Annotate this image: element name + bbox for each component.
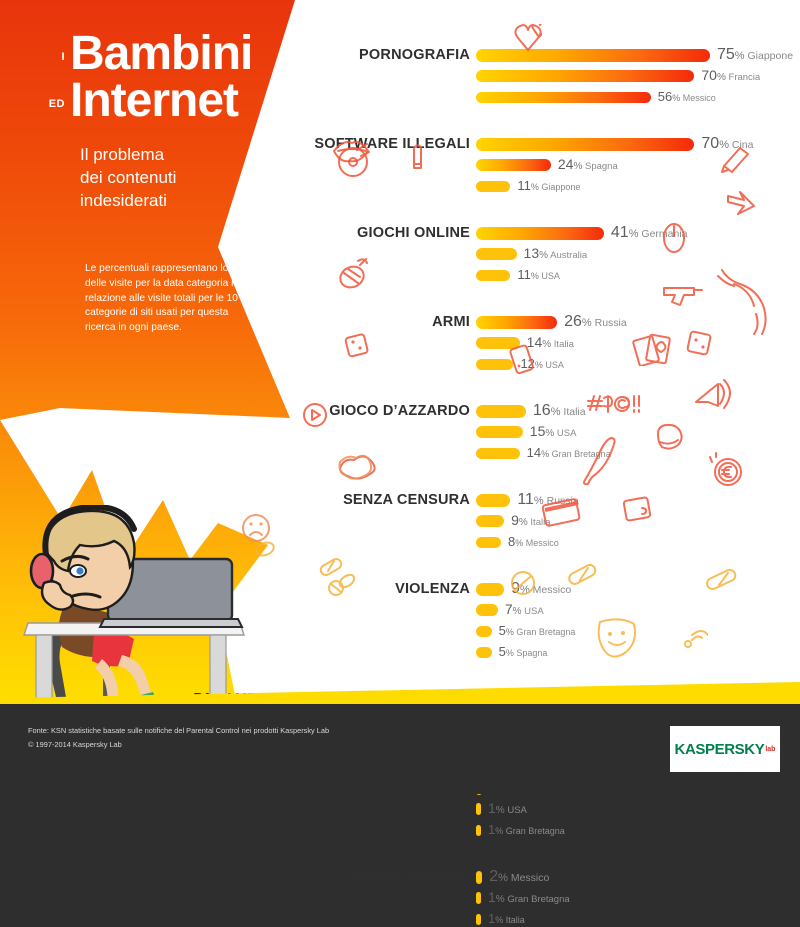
bar-value-label: 14% Gran Bretagna [527,445,611,461]
bar [476,537,501,548]
bar-row: 8% Messico [476,535,559,549]
bar-percent-number: 7 [505,601,513,617]
bar-percent-number: 56 [658,89,672,104]
bar-value-label: 41% Germania [611,225,688,241]
bar-country-label: Messico [530,584,571,596]
bar-value-label: 14% Italia [527,335,574,351]
bar-percent-number: 41 [611,224,629,241]
kaspersky-logo-text: KASPERSKY [675,741,765,758]
bar [476,405,526,418]
bar-percent-number: 26 [564,313,582,330]
bar-country-label: Spagna [514,648,548,658]
bar-row: 9% Messico [476,582,571,596]
percent-sign: % [531,182,539,192]
bar-value-label: 9% Messico [511,581,571,597]
bar-value-label: 5% Spagna [499,644,548,660]
percent-sign: % [495,826,503,836]
percent-sign: % [719,139,729,151]
bar-row: 70% Francia [476,69,760,83]
bar-row: 41% Germania [476,226,688,240]
bar-row: 7% USA [476,603,544,617]
percent-sign: % [534,495,544,507]
bar [476,270,510,281]
category-label: GIOCO D’AZZARDO [130,403,470,419]
bar-percent-number: 15 [530,423,546,439]
kaspersky-logo[interactable]: KASPERSKY lab [670,726,780,772]
percent-sign: % [496,894,505,905]
bar-country-label: Gran Bretagna [514,627,576,637]
bar-value-label: 1% USA [488,801,527,817]
bar-value-label: 13% Australia [524,246,588,262]
bar-percent-number: 70 [701,67,717,83]
bar-value-label: 8% Messico [508,534,559,550]
bar-row: 13% Australia [476,247,587,261]
bar-row: 75% Giappone [476,48,793,62]
bar-country-label: Messico [523,538,559,548]
bar [476,448,520,459]
bar-row: 1% Gran Bretagna [476,823,565,837]
bar-percent-number: 5 [499,623,506,638]
bar [476,316,557,329]
bar-value-label: 26% Russia [564,314,627,330]
percent-sign: % [735,50,745,62]
bar-value-label: 75% Giappone [717,47,793,63]
bar-value-label: 12% USA [520,356,564,372]
bar-row: 14% Italia [476,336,574,350]
bar-percent-number: 1 [488,800,496,816]
bar-country-label: USA [554,428,576,439]
percent-sign: % [506,627,514,637]
bar-value-label: 9% Italia [511,513,550,529]
bar [476,626,492,637]
bar [476,825,481,836]
bar-row: 12% USA [476,357,564,371]
bar-country-label: Italia [560,406,585,418]
bar [476,892,481,904]
percent-sign: % [496,805,505,816]
bar-percent-number: 1 [488,911,495,926]
percent-sign: % [513,606,522,617]
bar-row: 5% Spagna [476,645,547,659]
bar-value-label: 11% USA [517,267,560,283]
bar-value-label: 11% Russia [517,492,578,508]
bar-country-label: USA [543,360,564,370]
bar-row: 2% Messico [476,870,549,884]
bar-row: 1% Gran Bretagna [476,891,570,905]
bar-country-label: USA [522,606,544,617]
bar-percent-number: 12 [520,356,534,371]
bar [476,337,520,349]
bar-country-label: Giappone [745,50,793,62]
bar [476,181,510,192]
bar [476,159,551,171]
infographic-canvas: I Bambini ED Internet Il problema dei co… [0,0,800,794]
category-label: PORNOGRAFIA [130,47,470,63]
percent-sign: % [582,317,592,329]
percent-sign: % [539,250,548,261]
percent-sign: % [535,360,543,370]
bar-row: 1% Italia [476,912,525,926]
bar-percent-number: 16 [533,402,551,419]
category-label: ARMI [130,314,470,330]
bar-country-label: Gran Bretagna [503,826,565,836]
percent-sign: % [515,538,523,548]
category-label: SOFTWARE ILLEGALI [130,136,470,152]
source-line-1: Fonte: KSN statistiche basate sulle noti… [28,724,329,738]
percent-sign: % [506,648,514,658]
bar-row: 11% USA [476,268,560,282]
bar-percent-number: 9 [511,512,519,528]
percent-sign: % [541,449,549,459]
bar-country-label: Gran Bretagna [505,894,570,905]
bar [476,49,710,62]
bar [476,426,523,438]
bar-country-label: Gran Bretagna [549,449,611,459]
bar-row: 11% Giappone [476,179,580,193]
bar-row: 16% Italia [476,404,586,418]
bar-value-label: 70% Cina [701,136,753,152]
bar-value-label: 70% Francia [701,68,760,84]
bar [476,359,513,370]
bar-row: 70% Cina [476,137,753,151]
bar-country-label: Italia [528,517,551,528]
bar-row: 14% Gran Bretagna [476,446,611,460]
bar [476,494,510,507]
kaspersky-logo-lab-mark: lab [765,746,775,753]
bar-percent-number: 14 [527,445,541,460]
bar [476,604,498,616]
bar-row: 56% Messico [476,90,716,104]
bar-value-label: 15% USA [530,424,577,440]
bar-row: 5% Gran Bretagna [476,624,575,638]
category-label: GIOCHI ONLINE [130,225,470,241]
copyright-line: © 1997-2014 Kaspersky Lab [28,738,329,752]
bar [476,227,604,240]
bar-country-label: USA [539,271,560,281]
bar-value-label: 11% Giappone [517,178,580,194]
percent-sign: % [520,584,530,596]
bar [476,138,694,151]
bar-value-label: 1% Italia [488,911,525,927]
bar-percent-number: 75 [717,46,735,63]
bar-country-label: Russia [592,317,627,329]
percent-sign: % [531,271,539,281]
bar [476,248,517,260]
bar-country-label: USA [505,805,527,816]
bar-row: 9% Italia [476,514,551,528]
bar-country-label: Italia [551,339,574,350]
bar-percent-number: 1 [488,822,495,837]
bar-country-label: Italia [503,915,525,925]
bar-country-label: Australia [548,250,587,261]
bar-country-label: Giappone [539,182,581,192]
bar-row: 15% USA [476,425,576,439]
bar-country-label: Russia [544,495,579,507]
percent-sign: % [498,872,508,884]
bar-percent-number: 1 [488,889,496,905]
bar-percent-number: 13 [524,245,540,261]
bar-percent-number: 14 [527,334,543,350]
bar-country-label: Messico [680,93,716,103]
category-label: PROXY ANONIMI [130,869,470,885]
bar-value-label: 56% Messico [658,89,716,105]
bar-value-label: 1% Gran Bretagna [488,822,565,838]
bar-percent-number: 2 [489,868,498,885]
percent-sign: % [495,915,503,925]
bar-value-label: 5% Gran Bretagna [499,623,576,639]
percent-sign: % [545,428,554,439]
bar [476,515,504,527]
bar-country-label: Germania [638,228,687,240]
bar-country-label: Cina [729,139,754,151]
bar [476,70,694,82]
bar-percent-number: 11 [517,178,531,193]
bar [476,871,482,884]
bar-percent-number: 70 [701,135,719,152]
bar-row: 26% Russia [476,315,627,329]
bar-country-label: Messico [508,872,549,884]
bar [476,914,481,925]
bar-percent-number: 24 [558,156,574,172]
bar-row: 11% Russia [476,493,579,507]
bar-country-label: Francia [726,72,760,83]
bar-row: 1% USA [476,802,527,816]
percent-sign: % [519,517,528,528]
bar-value-label: 1% Gran Bretagna [488,890,570,906]
bar [476,647,492,658]
bar-value-label: 16% Italia [533,403,586,419]
source-text: Fonte: KSN statistiche basate sulle noti… [28,724,329,752]
bar-value-label: 2% Messico [489,869,549,885]
bar [476,583,504,596]
bar [476,803,481,815]
bar-percent-number: 9 [511,580,520,597]
bar-percent-number: 11 [517,491,534,508]
bar-country-label: Spagna [582,161,617,172]
percent-sign: % [672,93,680,103]
bar-row: 24% Spagna [476,158,618,172]
bar-percent-number: 11 [517,267,531,282]
percent-sign: % [717,72,726,83]
bar-percent-number: 5 [499,644,506,659]
bar [476,92,651,103]
percent-sign: % [542,339,551,350]
bar-value-label: 7% USA [505,602,544,618]
bar-value-label: 24% Spagna [558,157,618,173]
